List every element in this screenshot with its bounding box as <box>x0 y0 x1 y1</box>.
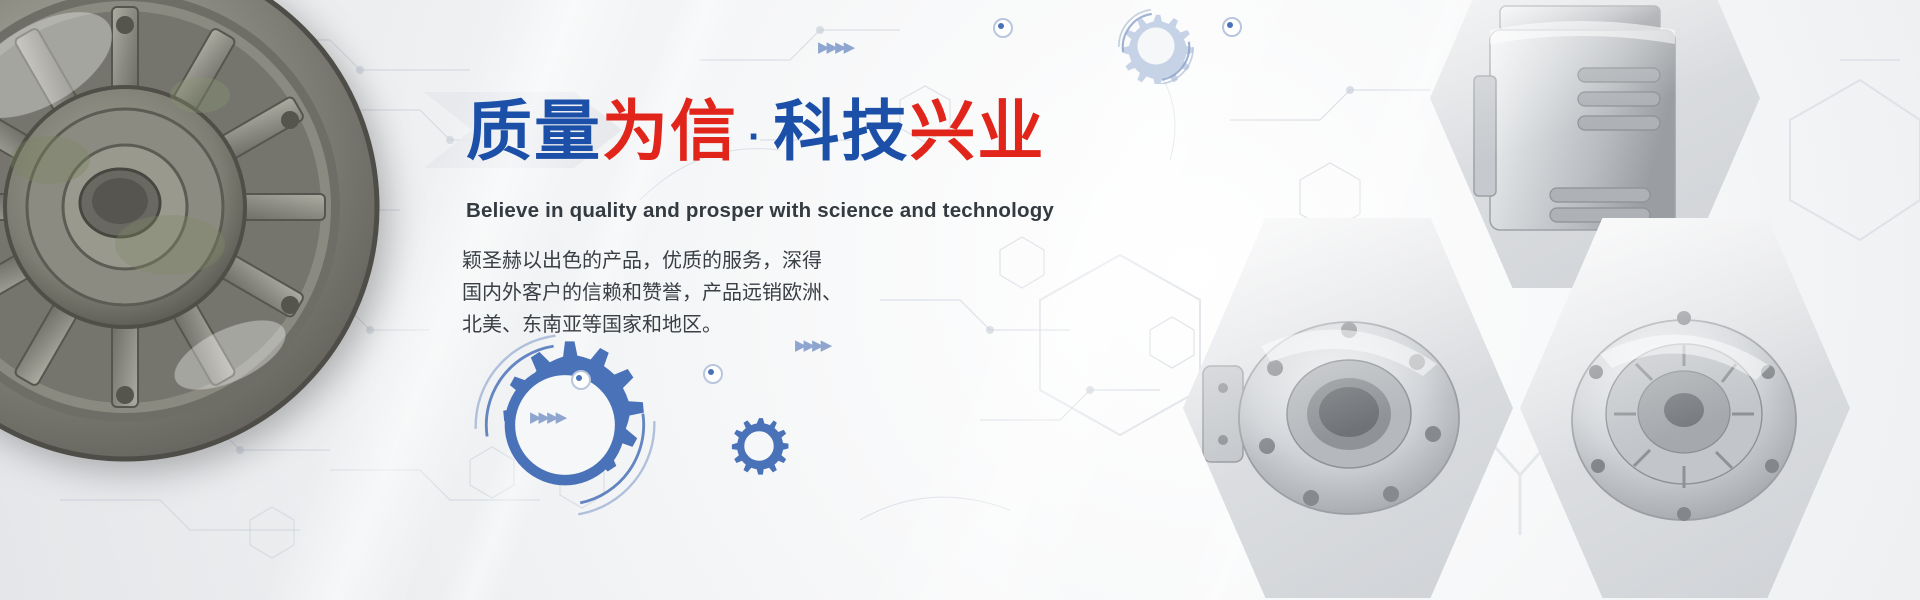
banner-headline: 质量为信·科技兴业 <box>466 98 1045 164</box>
description-line-1: 颖圣赫以出色的产品，优质的服务，深得 <box>462 244 882 276</box>
gear-icon <box>470 330 660 520</box>
headline-part-1: 质量 <box>466 94 602 168</box>
headline-separator-dot: · <box>738 115 773 159</box>
arrow-marks-icon: ▶▶▶▶ <box>530 408 564 426</box>
circle-dot-icon <box>1222 17 1242 37</box>
headline-part-3: 科技 <box>773 94 909 168</box>
circle-dot-icon <box>571 370 591 390</box>
arrow-marks-icon: ▶▶▶▶ <box>818 38 852 56</box>
gear-icon <box>1118 8 1194 84</box>
headline-part-4: 兴业 <box>909 94 1045 168</box>
circle-dot-icon <box>993 18 1013 38</box>
cast-wheel-hub-photo <box>0 0 390 485</box>
description-line-2: 国内外客户的信赖和赞誉，产品远销欧洲、 <box>462 276 882 308</box>
product-hex-tile-2 <box>1183 218 1513 598</box>
arrow-marks-icon: ▶▶▶▶ <box>795 336 829 354</box>
banner-description: 颖圣赫以出色的产品，优质的服务，深得 国内外客户的信赖和赞誉，产品远销欧洲、 北… <box>462 244 882 340</box>
gear-icon <box>728 415 790 477</box>
circle-dot-icon <box>703 364 723 384</box>
banner-subtitle-english: Believe in quality and prosper with scie… <box>466 199 1054 223</box>
promo-banner: 质量为信·科技兴业 Believe in quality and prosper… <box>0 0 1920 600</box>
headline-part-2: 为信 <box>602 94 738 168</box>
